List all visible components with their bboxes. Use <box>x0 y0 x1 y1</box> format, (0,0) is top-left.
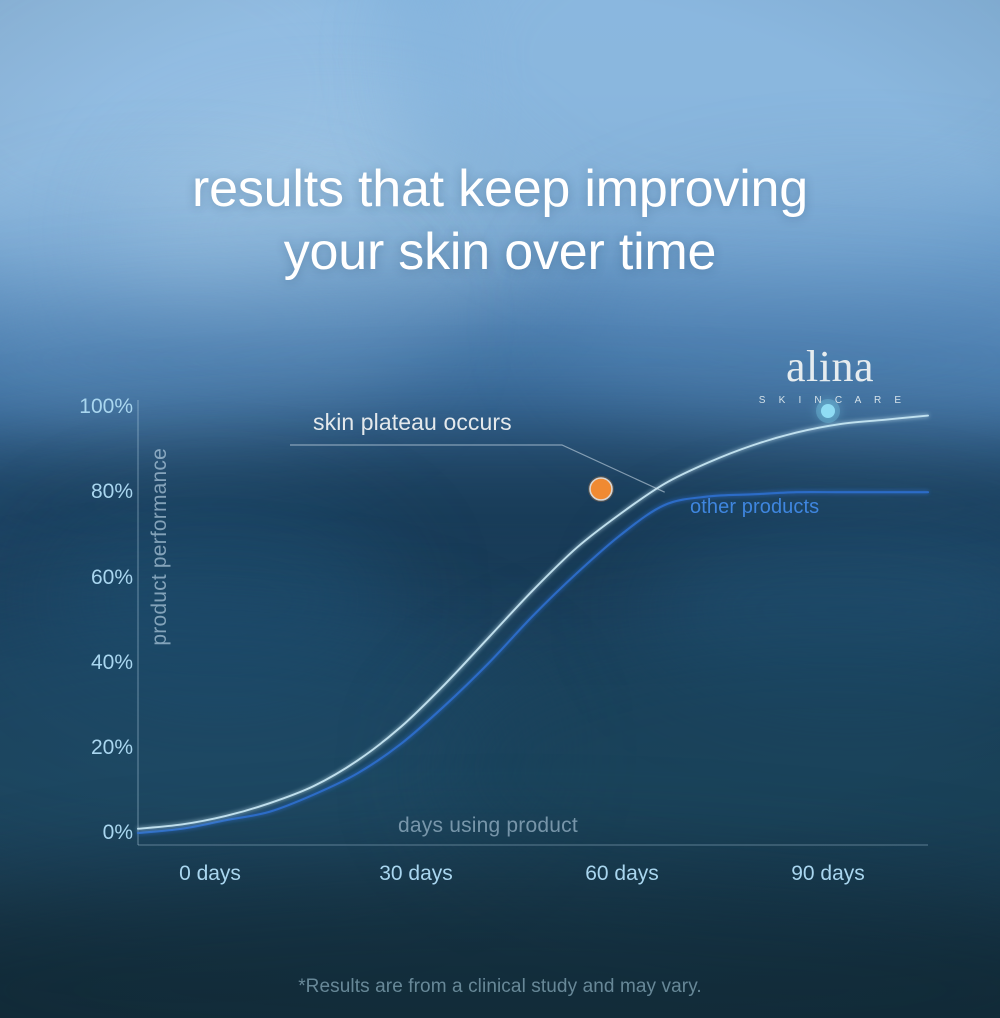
alina-endpoint-marker[interactable] <box>821 404 835 418</box>
x-axis-title: days using product <box>398 814 578 838</box>
x-tick-label-30-days: 30 days <box>379 862 453 886</box>
x-tick-label-60-days: 60 days <box>585 862 659 886</box>
other-products-annotation-label: other products <box>690 496 819 519</box>
skin-plateau-annotation-label: skin plateau occurs <box>313 409 512 436</box>
y-tick-label-40: 40% <box>91 651 133 675</box>
x-tick-label-0-days: 0 days <box>179 862 241 886</box>
poster-canvas: results that keep improving your skin ov… <box>0 0 1000 1018</box>
disclaimer-footnote: *Results are from a clinical study and m… <box>0 976 1000 998</box>
other-products-curve <box>138 492 928 833</box>
x-tick-label-90-days: 90 days <box>791 862 865 886</box>
y-tick-label-80: 80% <box>91 480 133 504</box>
y-tick-label-0: 0% <box>103 821 133 845</box>
y-tick-label-60: 60% <box>91 566 133 590</box>
y-axis-title: product performance <box>148 448 172 646</box>
y-tick-label-20: 20% <box>91 736 133 760</box>
alina-performance-curve <box>138 416 928 829</box>
skin-plateau-marker[interactable] <box>590 478 612 500</box>
y-tick-label-100: 100% <box>79 395 133 419</box>
